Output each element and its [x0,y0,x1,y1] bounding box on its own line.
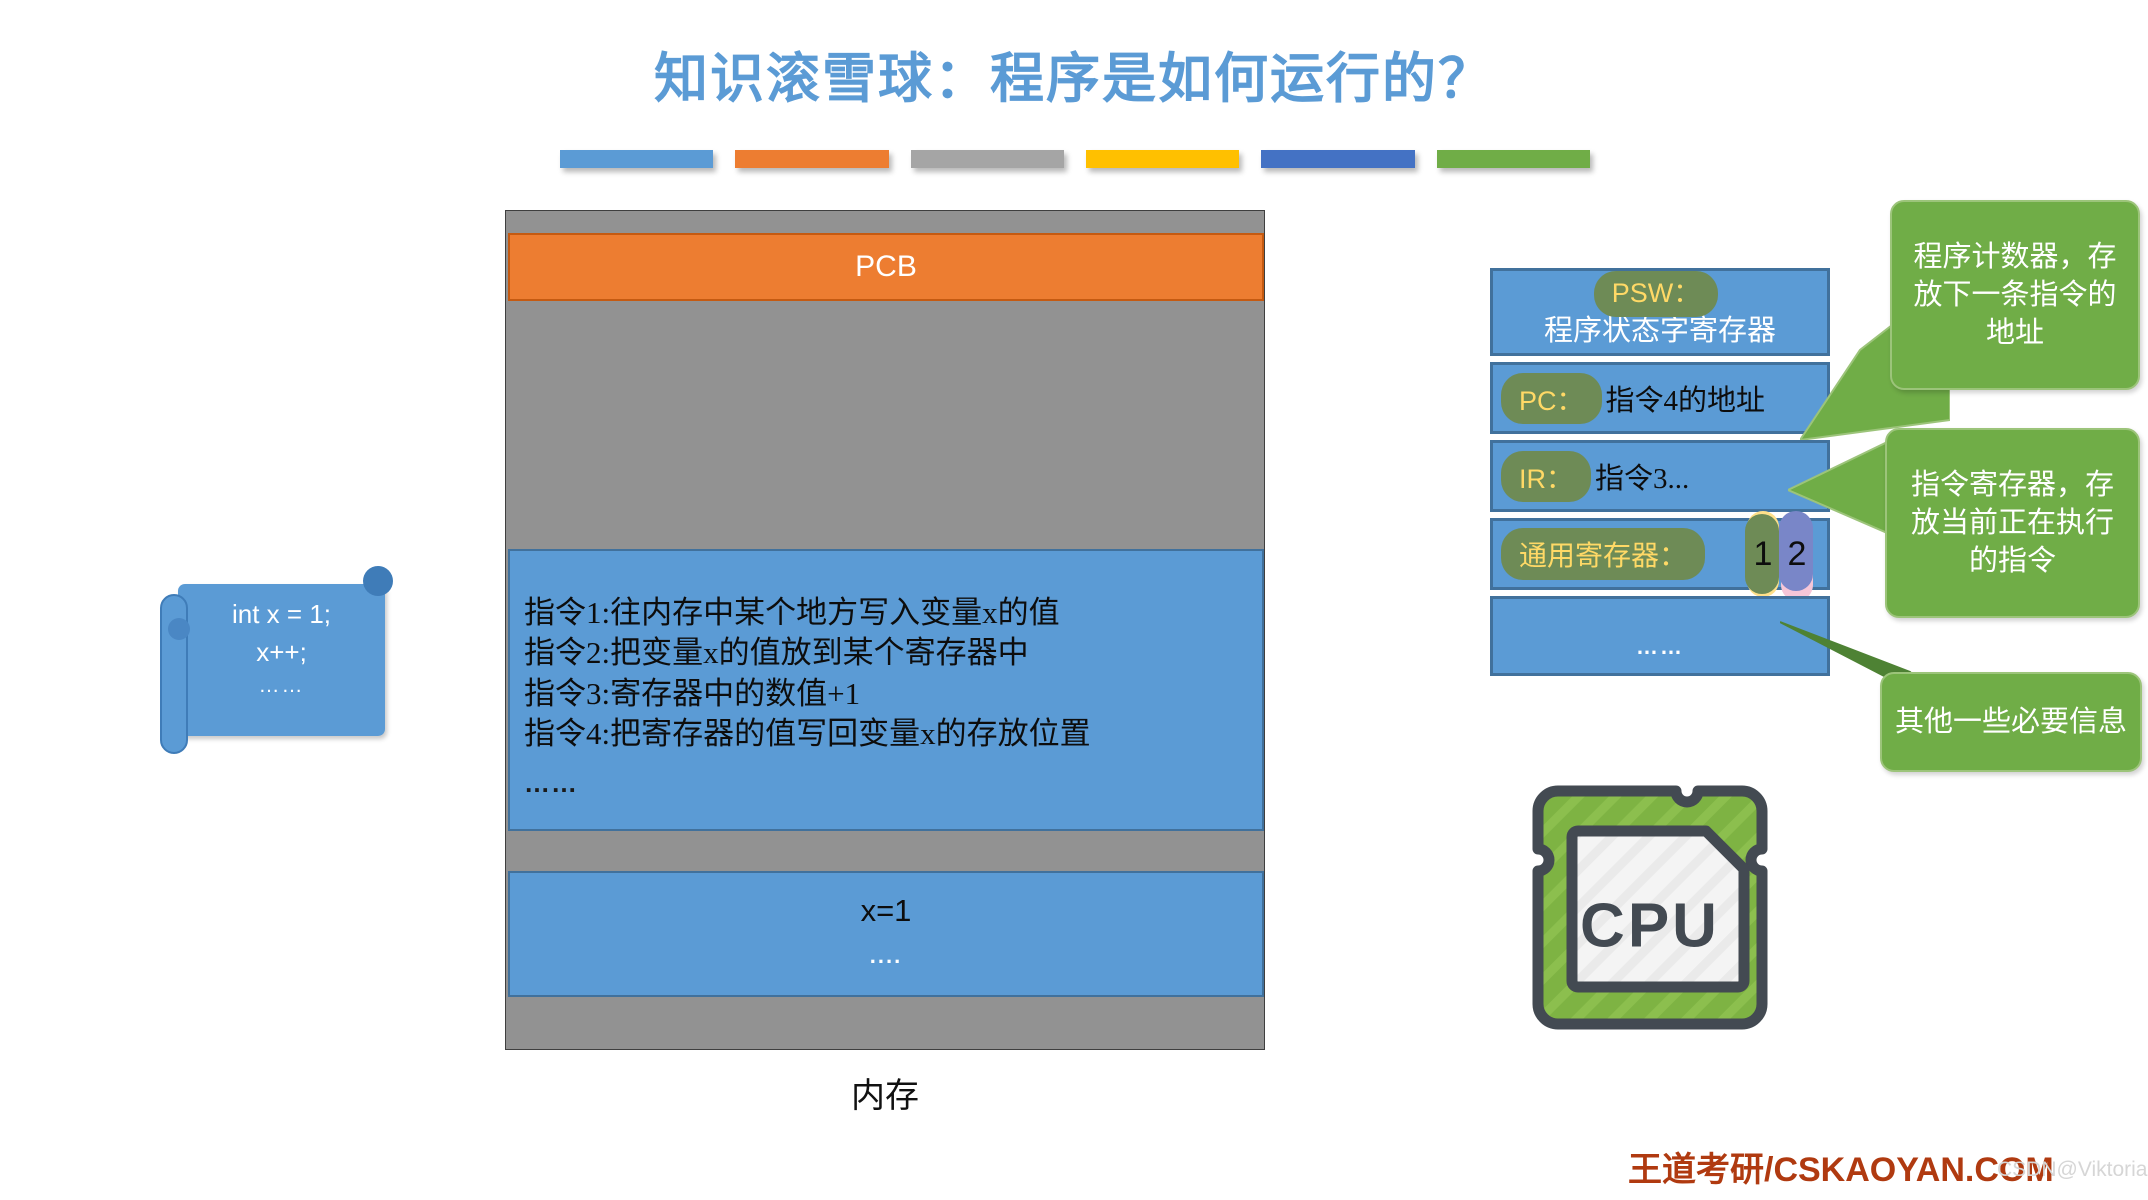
ir-value: 指令3... [1595,455,1689,497]
brand-watermark: 王道考研/CSKAOYAN.COM [1628,1142,2054,1191]
register-row-general-purpose: 通用寄存器： 1 2 [1490,518,1830,590]
pc-value: 指令4的地址 [1606,377,1766,419]
source-code-scroll: int x = 1; x++; …… [160,570,385,750]
gpr-digit-old: 1 [1745,511,1781,597]
register-more-ellipsis: …… [1636,634,1684,660]
title-bar-green [1437,150,1590,168]
memory-pcb-band: PCB [508,233,1264,301]
pc-key: PC： [1507,377,1596,420]
instruction-line-3: 指令3:寄存器中的数值+1 [524,674,1250,714]
title-bar-orange [735,150,888,168]
memory-data-band: x=1 .... [508,871,1264,997]
memory-data-value: x=1 [861,893,912,929]
title-bar-yellow [1086,150,1239,168]
memory-block: PCB 指令1:往内存中某个地方写入变量x的值 指令2:把变量x的值放到某个寄存… [505,210,1265,1050]
register-row-ir: IR： 指令3... [1490,440,1830,512]
csdn-watermark: CSDN@Viktoriae [1997,1158,2148,1182]
callout-instruction-register: 指令寄存器，存放当前正在执行的指令 [1885,428,2140,618]
memory-data-ellipsis: .... [870,943,902,969]
gpr-key: 通用寄存器： [1507,532,1699,576]
code-line-3: …… [178,671,385,701]
register-row-psw: PSW： 程序状态字寄存器 [1490,268,1830,356]
title-bar-navy [1261,150,1414,168]
scroll-knob-right [363,566,393,596]
psw-content: PSW： 程序状态字寄存器 [1493,275,1827,349]
callout-other-info: 其他一些必要信息 [1880,672,2142,772]
cpu-label: CPU [1580,891,1720,960]
title-underline-bars [560,150,1590,168]
memory-instruction-band: 指令1:往内存中某个地方写入变量x的值 指令2:把变量x的值放到某个寄存器中 指… [508,549,1264,831]
pcb-label: PCB [855,250,917,284]
code-lines: int x = 1; x++; …… [178,596,385,702]
instruction-line-4: 指令4:把寄存器的值写回变量x的存放位置 [524,714,1250,754]
instruction-line-2: 指令2:把变量x的值放到某个寄存器中 [524,633,1250,673]
cpu-chip-icon: CPU [1520,775,1780,1040]
title-block: 知识滚雪球：程序是如何运行的？ [0,48,2148,110]
psw-key: PSW： [1600,275,1713,313]
ir-key: IR： [1507,455,1585,498]
memory-caption: 内存 [505,1068,1265,1117]
register-row-more: …… [1490,596,1830,676]
page-title: 知识滚雪球：程序是如何运行的？ [0,48,2148,110]
title-bar-blue [560,150,713,168]
instruction-line-1: 指令1:往内存中某个地方写入变量x的值 [524,593,1250,633]
title-bar-gray [911,150,1064,168]
callout-program-counter: 程序计数器，存放下一条指令的地址 [1890,200,2140,390]
instruction-ellipsis: …… [524,768,1250,799]
register-row-pc: PC： 指令4的地址 [1490,362,1830,434]
code-line-1: int x = 1; [178,596,385,634]
code-line-2: x++; [178,634,385,672]
psw-value: 程序状态字寄存器 [1544,313,1776,349]
register-panel: PSW： 程序状态字寄存器 PC： 指令4的地址 IR： 指令3... 通用寄存… [1490,268,1830,682]
